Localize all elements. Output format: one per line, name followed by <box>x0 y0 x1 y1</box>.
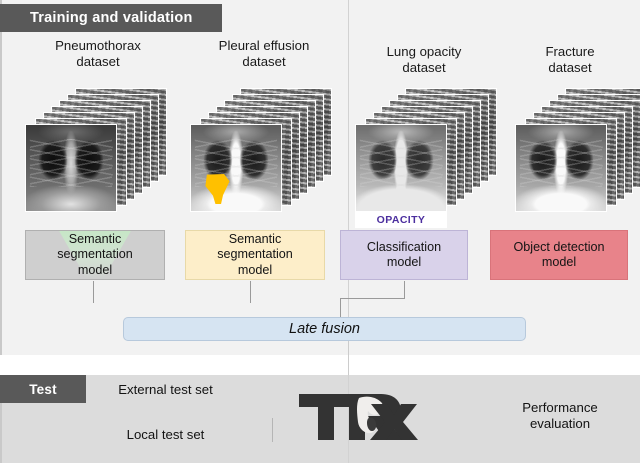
connector-stub-model1 <box>93 281 94 303</box>
image-stack-lung-opacity: OPACITY <box>355 88 500 228</box>
figure-root: Training and validation Pneumothorax dat… <box>0 0 640 463</box>
training-section-label: Training and validation <box>30 10 193 26</box>
dataset-title-pneumothorax: Pneumothorax dataset <box>18 38 178 70</box>
connector-model3-vertical <box>404 281 405 298</box>
connector-stub-model2 <box>250 281 251 303</box>
late-fusion-label: Late fusion <box>289 321 360 337</box>
model-label-classification: Classification model <box>367 240 441 271</box>
model-box-semantic-segmentation-effusion[interactable]: Semantic segmentation model <box>185 230 325 280</box>
model-label-object-detection: Object detection model <box>513 240 604 271</box>
test-item-local-test-set: Local test set <box>98 427 233 443</box>
xray-pneumothorax <box>25 124 117 212</box>
model-box-classification[interactable]: Classification model <box>340 230 468 280</box>
dataset-title-lung-opacity: Lung opacity dataset <box>348 44 500 76</box>
training-section-header: Training and validation <box>0 4 222 32</box>
class-label-opacity: OPACITY <box>355 212 447 228</box>
connector-fusion-to-test <box>348 341 349 375</box>
model-box-semantic-segmentation-pneumothorax[interactable]: Semantic segmentation model <box>25 230 165 280</box>
dataset-title-pleural-effusion: Pleural effusion dataset <box>183 38 345 70</box>
connector-model3-horizontal <box>340 298 405 299</box>
xray-fracture <box>515 124 607 212</box>
model-label-semantic-segmentation-effusion: Semantic segmentation model <box>217 232 293 279</box>
model-label-semantic-segmentation-pneumothorax: Semantic segmentation model <box>57 232 133 279</box>
late-fusion-box[interactable]: Late fusion <box>123 317 526 341</box>
connector-to-fusion <box>340 298 341 318</box>
image-stack-pneumothorax <box>25 88 170 213</box>
xray-lung-opacity <box>355 124 447 212</box>
test-section-label: Test <box>29 382 57 397</box>
image-stack-fracture <box>515 88 640 213</box>
test-divider-tick <box>272 418 273 442</box>
test-section-header: Test <box>0 375 86 403</box>
dataset-title-fracture: Fracture dataset <box>505 44 635 76</box>
test-item-external-test-set: External test set <box>98 382 233 398</box>
trx-logo <box>297 390 419 442</box>
model-box-object-detection[interactable]: Object detection model <box>490 230 628 280</box>
test-item-performance-evaluation: Performance evaluation <box>495 400 625 432</box>
xray-pleural-effusion <box>190 124 282 212</box>
image-stack-pleural-effusion <box>190 88 335 213</box>
